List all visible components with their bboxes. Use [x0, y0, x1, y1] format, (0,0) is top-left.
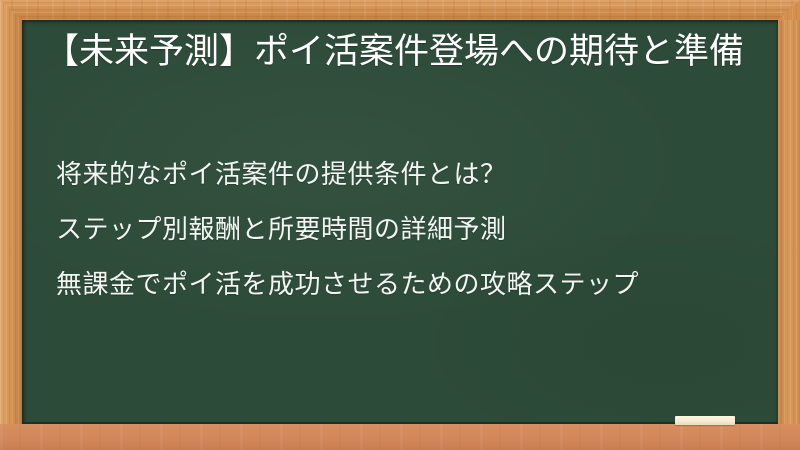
list-item: 無課金でポイ活を成功させるための攻略ステップ — [56, 258, 756, 313]
frame-top-rail — [0, 0, 800, 20]
chalk-stick-icon — [675, 416, 735, 425]
chalkboard-surface: 【未来予測】ポイ活案件登場への期待と準備 将来的なポイ活案件の提供条件とは？ ス… — [22, 20, 778, 424]
list-item: 将来的なポイ活案件の提供条件とは？ — [56, 148, 756, 203]
frame-bottom-ledge — [0, 424, 800, 450]
frame-left-rail — [0, 0, 22, 450]
frame-right-rail — [778, 0, 800, 450]
list-item: ステップ別報酬と所要時間の詳細予測 — [56, 203, 756, 258]
blackboard-slide: 【未来予測】ポイ活案件登場への期待と準備 将来的なポイ活案件の提供条件とは？ ス… — [0, 0, 800, 450]
page-title: 【未来予測】ポイ活案件登場への期待と準備 — [44, 28, 756, 76]
bullet-list: 将来的なポイ活案件の提供条件とは？ ステップ別報酬と所要時間の詳細予測 無課金で… — [56, 148, 756, 313]
board-bottom-edge — [22, 422, 778, 424]
